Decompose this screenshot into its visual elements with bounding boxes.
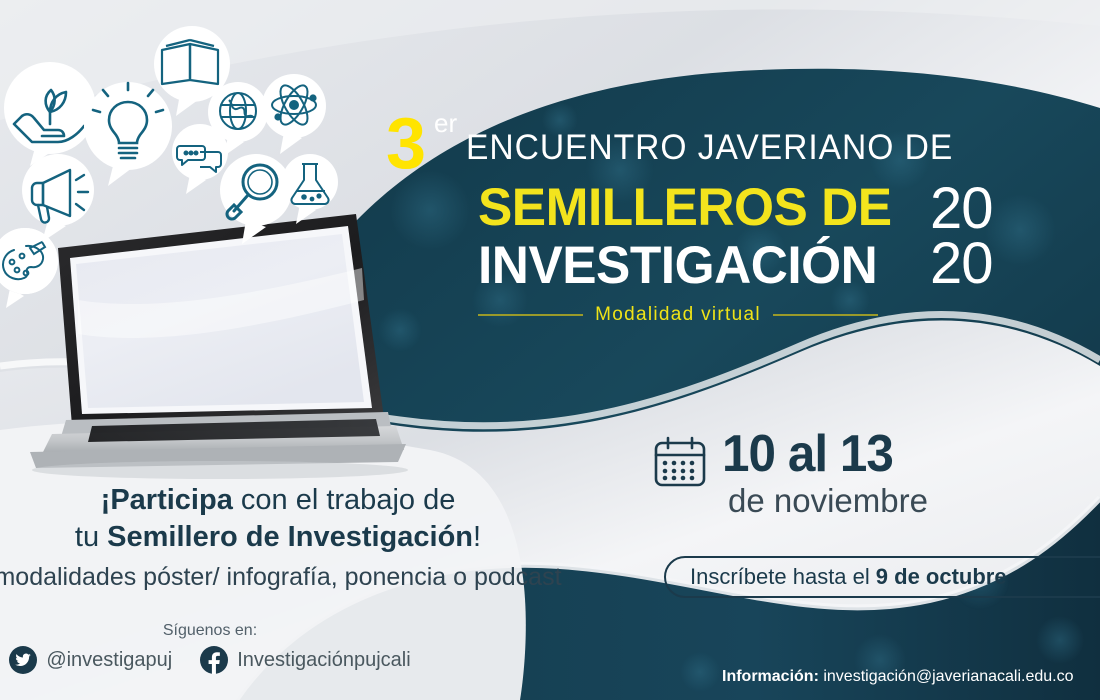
ordinal-row: 3 er ENCUENTRO JAVERIANO DE [386,122,906,184]
year-top: 20 [930,182,993,237]
modality-row: Modalidad virtual [478,304,878,326]
promo-line2-suffix: ! [473,521,481,553]
follow-label: Síguenos en: [0,622,420,640]
social-item-facebook[interactable]: Investigaciónpujcali [200,646,410,674]
modality-label: Modalidad virtual [595,304,761,326]
deadline-prefix: Inscríbete hasta el [690,564,870,590]
date-range: 10 al 13 [722,428,918,480]
promo-line-2: tu Semillero de Investigación! [0,519,578,556]
facebook-icon[interactable] [200,646,228,674]
calendar-icon [652,434,708,490]
ordinal-suffix: er [434,110,457,136]
megaphone-icon [14,148,102,246]
promo-line1-rest: con el trabajo de [233,484,455,516]
promo-line2-prefix: tu [75,521,107,553]
social-item-twitter[interactable]: @investigapuj [9,646,172,674]
flask-icon [276,150,344,228]
social-block: Síguenos en: @investigapuj Investigación… [0,622,420,674]
promo-line-1: ¡Participa con el trabajo de [0,482,578,519]
twitter-icon[interactable] [9,646,37,674]
date-text: 10 al 13 de noviembre [722,428,928,520]
promo-line2-bold: Semillero de Investigación [107,521,473,553]
date-month: de noviembre [728,482,928,520]
deadline-date: 9 de octubre [876,564,1007,590]
headline-block: 3 er ENCUENTRO JAVERIANO DE SEMILLEROS D… [386,122,906,326]
promo-line1-bold: ¡Participa [101,484,233,516]
event-banner: 3 er ENCUENTRO JAVERIANO DE SEMILLEROS D… [0,0,1100,700]
atom-icon [256,70,332,156]
twitter-handle[interactable]: @investigapuj [46,649,172,672]
social-row: @investigapuj Investigaciónpujcali [0,646,420,674]
year-bottom: 20 [930,237,993,292]
contact-info-bar: Información: investigación@javerianacali… [722,668,1074,686]
title-line-3: INVESTIGACIÓN [478,238,893,294]
title-line-1: ENCUENTRO JAVERIANO DE [466,128,953,168]
facebook-handle[interactable]: Investigaciónpujcali [237,649,410,672]
promo-line-3: modalidades póster/ infografía, ponencia… [0,563,578,592]
modality-rule-left [478,314,583,316]
event-date-block: 10 al 13 de noviembre [652,428,928,520]
info-email[interactable]: investigación@javerianacali.edu.co [823,668,1073,685]
event-year: 20 20 [930,182,993,291]
modality-rule-right [773,314,878,316]
title-line-2: SEMILLEROS DE [478,180,893,236]
ordinal-number: 3 [386,108,424,180]
registration-deadline-pill: Inscríbete hasta el 9 de octubre [664,556,1100,598]
info-label: Información: [722,668,819,685]
promo-text-block: ¡Participa con el trabajo de tu Semiller… [0,482,578,592]
